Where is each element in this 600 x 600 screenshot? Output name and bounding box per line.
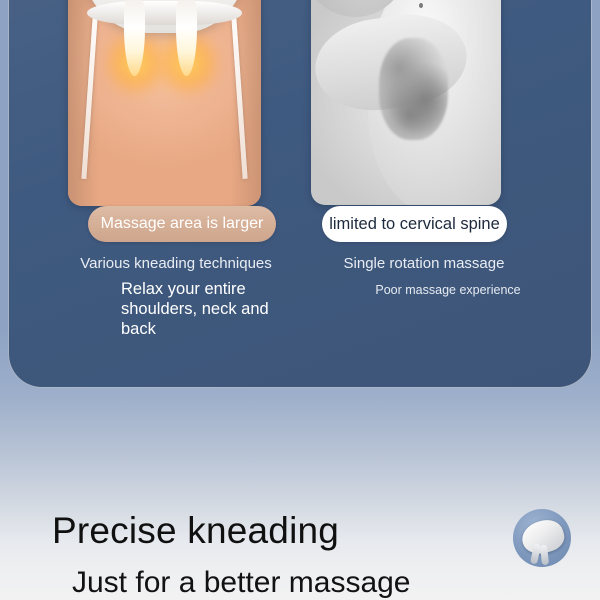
comparison-column-left: Massage area is larger Various kneading … bbox=[61, 206, 291, 339]
neck-massager-grayscale-photo bbox=[311, 0, 501, 205]
device-texture-detail bbox=[379, 38, 447, 140]
footer-tagline: Just for a better massage bbox=[72, 566, 411, 600]
right-feature-pill: limited to cervical spine bbox=[322, 206, 507, 242]
product-comparison-page: Massage area is larger Various kneading … bbox=[0, 0, 600, 600]
product-thumbnail-badge bbox=[513, 509, 571, 567]
left-detail-text: Relax your entire shoulders, neck and ba… bbox=[61, 279, 291, 339]
back-massage-with-heating-nodes-photo bbox=[68, 0, 261, 206]
massager-lower-lip bbox=[87, 1, 241, 25]
comparison-column-right: limited to cervical spine Single rotatio… bbox=[307, 206, 547, 297]
comparison-photos-row bbox=[9, 0, 592, 206]
footer-headline: Precise kneading bbox=[52, 510, 339, 552]
right-detail-text: Poor massage experience bbox=[307, 283, 547, 297]
right-subtitle: Single rotation massage bbox=[301, 255, 547, 272]
left-subtitle: Various kneading techniques bbox=[61, 255, 291, 272]
footer-section: Precise kneading Just for a better massa… bbox=[0, 498, 600, 600]
comparison-card: Massage area is larger Various kneading … bbox=[8, 0, 592, 388]
left-feature-pill: Massage area is larger bbox=[88, 206, 276, 242]
